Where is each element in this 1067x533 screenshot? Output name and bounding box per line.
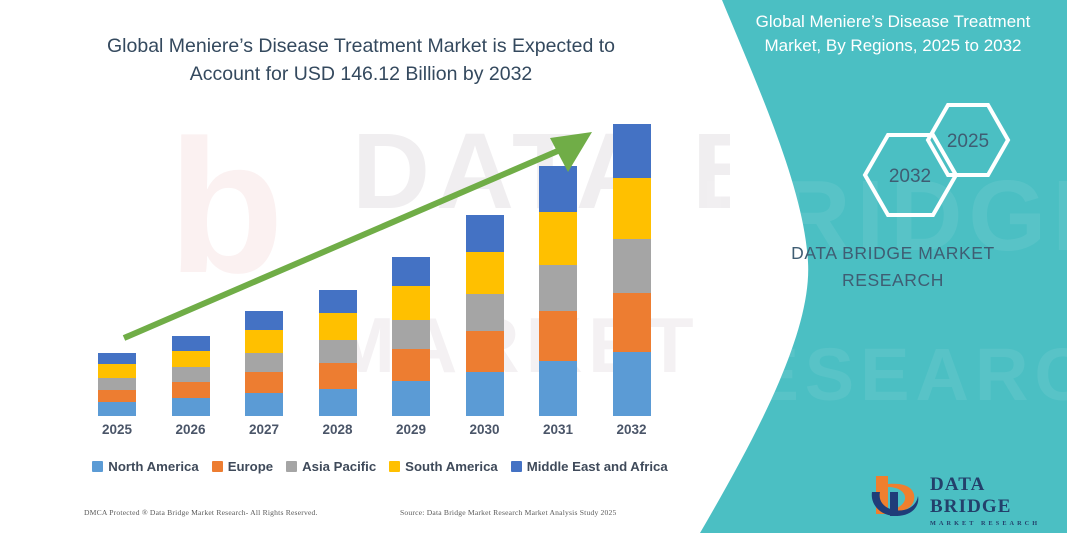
hexagon-group: 2025 2032 xyxy=(720,95,1060,225)
brand-line-1: DATA BRIDGE MARKET xyxy=(791,243,995,263)
logo-title: DATA BRIDGE xyxy=(930,474,1058,518)
logo-subtitle: MARKET RESEARCH xyxy=(930,520,1058,527)
company-logo[interactable]: DATA BRIDGE MARKET RESEARCH xyxy=(868,470,1058,522)
logo-mark-icon xyxy=(868,470,926,520)
brand-line-2: RESEARCH xyxy=(842,270,944,290)
logo-text: DATA BRIDGE MARKET RESEARCH xyxy=(930,474,1058,527)
svg-text:2025: 2025 xyxy=(947,131,989,152)
right-panel: Global Meniere’s Disease Treatment Marke… xyxy=(660,0,1067,533)
svg-text:2032: 2032 xyxy=(889,166,931,187)
brand-name: DATA BRIDGE MARKET RESEARCH xyxy=(733,240,1053,294)
infographic-canvas: b DATA BRIDGE MARKET RESEARCH Global Men… xyxy=(0,0,1067,533)
right-panel-title: Global Meniere’s Disease Treatment Marke… xyxy=(733,10,1053,58)
